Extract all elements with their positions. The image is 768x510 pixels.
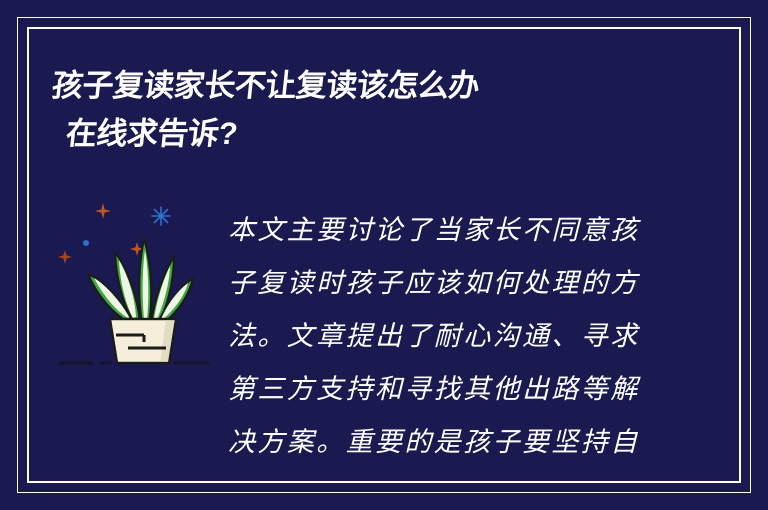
- plant-leaves: [88, 238, 193, 324]
- summary-line: 本文主要讨论了当家长不同意孩: [228, 204, 658, 257]
- plant-pot: [110, 319, 176, 363]
- page-title: 孩子复读家长不让复读该怎么办 在线求告诉?: [52, 62, 712, 158]
- title-line-1: 孩子复读家长不让复读该怎么办: [49, 62, 714, 110]
- summary-line: 子复读时孩子应该如何处理的方: [228, 257, 658, 310]
- sparkle-blue-dot: [83, 240, 89, 246]
- summary-line: 第三方支持和寻找其他出路等解: [228, 363, 658, 416]
- title-line-2: 在线求告诉?: [63, 110, 714, 158]
- sparkle-orange-top: [95, 203, 111, 219]
- potted-plant-illustration: [48, 190, 218, 380]
- summary-line: 决方案。重要的是孩子要坚持自: [228, 416, 658, 469]
- sparkle-blue-flake: [152, 207, 170, 225]
- summary-line: 法。文章提出了耐心沟通、寻求: [228, 310, 658, 363]
- sparkle-orange-left: [58, 250, 72, 264]
- article-cover-card: 孩子复读家长不让复读该怎么办 在线求告诉?: [0, 0, 768, 510]
- article-summary: 本文主要讨论了当家长不同意孩 子复读时孩子应该如何处理的方 法。文章提出了耐心沟…: [228, 204, 658, 469]
- content-row: 本文主要讨论了当家长不同意孩 子复读时孩子应该如何处理的方 法。文章提出了耐心沟…: [0, 190, 768, 490]
